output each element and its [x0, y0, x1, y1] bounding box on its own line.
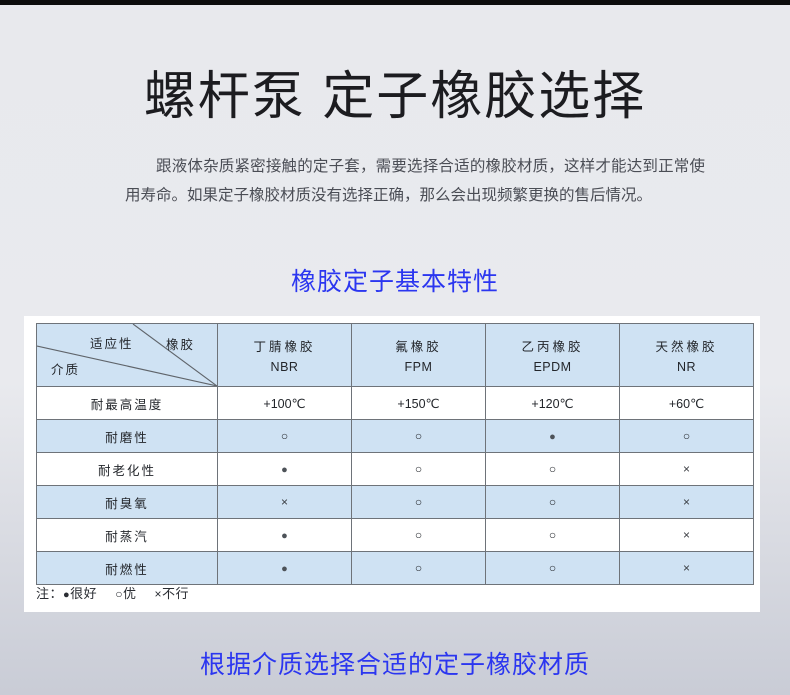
- rating-symbol: ×: [683, 463, 690, 475]
- corner-label-rubber: 橡胶: [166, 334, 195, 353]
- cell-epdm: ○: [486, 486, 620, 519]
- table-header-row: 适应性橡胶介质丁腈橡胶NBR氟橡胶FPM乙丙橡胶EPDM天然橡胶NR: [37, 324, 754, 387]
- legend-item: ●很好: [63, 586, 97, 601]
- table-row: 耐臭氧×○○×: [37, 486, 754, 519]
- cell-nr: ×: [620, 486, 754, 519]
- column-header-epdm: 乙丙橡胶EPDM: [486, 324, 620, 387]
- column-header-en: NBR: [218, 360, 351, 374]
- cell-fpm: ○: [352, 453, 486, 486]
- rating-symbol: ●: [281, 564, 288, 575]
- rating-symbol: ×: [683, 529, 690, 541]
- corner-label-adaptability: 适应性: [90, 333, 134, 352]
- corner-label-medium: 介质: [51, 359, 80, 378]
- column-header-fpm: 氟橡胶FPM: [352, 324, 486, 387]
- legend-item: ×不行: [154, 586, 189, 601]
- rating-symbol: ●: [281, 531, 288, 542]
- column-header-en: FPM: [352, 360, 485, 374]
- rating-symbol: ○: [549, 529, 556, 541]
- column-header-cn: 丁腈橡胶: [218, 336, 351, 355]
- cell-epdm: ●: [486, 420, 620, 453]
- table-row: 耐老化性●○○×: [37, 453, 754, 486]
- table-row: 耐磨性○○●○: [37, 420, 754, 453]
- table-row: 耐燃性●○○×: [37, 552, 754, 585]
- rating-symbol: ○: [683, 430, 690, 442]
- rating-symbol: ×: [281, 496, 288, 508]
- table-row: 耐蒸汽●○○×: [37, 519, 754, 552]
- table-card: 适应性橡胶介质丁腈橡胶NBR氟橡胶FPM乙丙橡胶EPDM天然橡胶NR耐最高温度+…: [24, 316, 760, 612]
- rating-symbol: ●: [281, 465, 288, 476]
- page-root: 螺杆泵 定子橡胶选择 跟液体杂质紧密接触的定子套，需要选择合适的橡胶材质，这样才…: [0, 0, 790, 695]
- rating-symbol: ×: [683, 562, 690, 574]
- row-label: 耐磨性: [37, 420, 218, 453]
- column-header-cn: 乙丙橡胶: [486, 336, 619, 355]
- legend-text: 不行: [162, 586, 189, 601]
- column-header-nr: 天然橡胶NR: [620, 324, 754, 387]
- cell-fpm: ○: [352, 552, 486, 585]
- rating-symbol: ●: [549, 432, 556, 443]
- rating-symbol: ○: [415, 496, 422, 508]
- rating-symbol: ○: [549, 562, 556, 574]
- top-black-bar: [0, 0, 790, 5]
- cell-epdm: ○: [486, 519, 620, 552]
- row-label: 耐燃性: [37, 552, 218, 585]
- header-corner-cell: 适应性橡胶介质: [37, 324, 218, 387]
- cell-nr: ○: [620, 420, 754, 453]
- row-label: 耐最高温度: [37, 387, 218, 420]
- table-wrapper: 适应性橡胶介质丁腈橡胶NBR氟橡胶FPM乙丙橡胶EPDM天然橡胶NR耐最高温度+…: [36, 323, 748, 585]
- intro-paragraph: 跟液体杂质紧密接触的定子套，需要选择合适的橡胶材质，这样才能达到正常使用寿命。如…: [125, 152, 705, 210]
- table-row: 耐最高温度+100℃+150℃+120℃+60℃: [37, 387, 754, 420]
- rating-symbol: ○: [415, 529, 422, 541]
- rating-symbol: ○: [281, 430, 288, 442]
- cell-epdm: ○: [486, 552, 620, 585]
- row-label: 耐老化性: [37, 453, 218, 486]
- cell-fpm: ○: [352, 420, 486, 453]
- cell-epdm: +120℃: [486, 387, 620, 420]
- rating-symbol: ○: [549, 463, 556, 475]
- rating-symbol: ○: [415, 463, 422, 475]
- cell-epdm: ○: [486, 453, 620, 486]
- legend-text: 很好: [70, 586, 97, 601]
- cell-nr: +60℃: [620, 387, 754, 420]
- legend-symbol: ×: [154, 587, 162, 601]
- cell-nbr: ×: [218, 486, 352, 519]
- rating-symbol: ×: [683, 496, 690, 508]
- cell-fpm: ○: [352, 486, 486, 519]
- cell-nbr: ●: [218, 453, 352, 486]
- section-heading: 橡胶定子基本特性: [0, 262, 790, 298]
- legend-prefix: 注：: [36, 586, 63, 601]
- legend-text: 优: [123, 586, 137, 601]
- rubber-properties-table: 适应性橡胶介质丁腈橡胶NBR氟橡胶FPM乙丙橡胶EPDM天然橡胶NR耐最高温度+…: [36, 323, 754, 585]
- row-label: 耐蒸汽: [37, 519, 218, 552]
- column-header-en: EPDM: [486, 360, 619, 374]
- row-label: 耐臭氧: [37, 486, 218, 519]
- rating-symbol: ○: [549, 496, 556, 508]
- column-header-cn: 氟橡胶: [352, 336, 485, 355]
- rating-symbol: ○: [415, 562, 422, 574]
- cell-nr: ×: [620, 453, 754, 486]
- cell-nbr: +100℃: [218, 387, 352, 420]
- page-title: 螺杆泵 定子橡胶选择: [0, 66, 790, 128]
- cell-nr: ×: [620, 519, 754, 552]
- table-legend: 注：●很好○优×不行: [36, 583, 207, 602]
- bottom-caption: 根据介质选择合适的定子橡胶材质: [0, 645, 790, 681]
- column-header-en: NR: [620, 360, 753, 374]
- column-header-nbr: 丁腈橡胶NBR: [218, 324, 352, 387]
- cell-nr: ×: [620, 552, 754, 585]
- cell-fpm: ○: [352, 519, 486, 552]
- cell-fpm: +150℃: [352, 387, 486, 420]
- cell-nbr: ○: [218, 420, 352, 453]
- cell-nbr: ●: [218, 519, 352, 552]
- cell-nbr: ●: [218, 552, 352, 585]
- rating-symbol: ○: [415, 430, 422, 442]
- column-header-cn: 天然橡胶: [620, 336, 753, 355]
- legend-item: ○优: [115, 586, 136, 601]
- legend-symbol: ○: [115, 587, 123, 601]
